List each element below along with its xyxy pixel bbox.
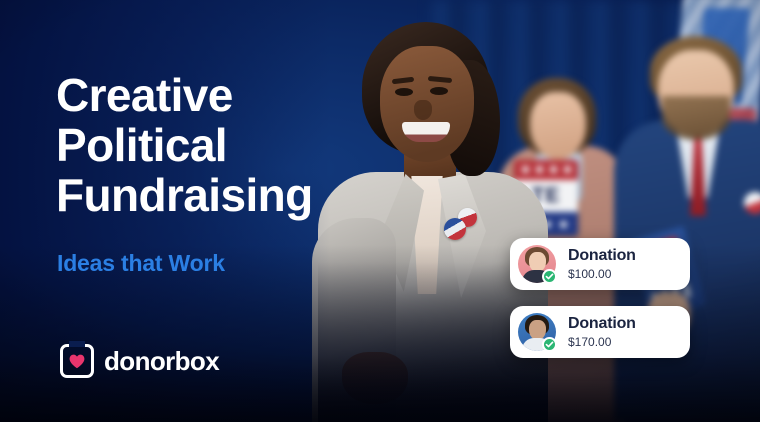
- check-badge-icon: [542, 337, 557, 352]
- headline-line-3: Fundraising: [56, 170, 386, 220]
- donation-amount: $100.00: [568, 268, 636, 280]
- subtitle: Ideas that Work: [57, 250, 225, 277]
- donation-title: Donation: [568, 316, 636, 332]
- donation-title: Donation: [568, 248, 636, 264]
- campaign-pin-icon: [744, 192, 760, 214]
- donation-card[interactable]: Donation $170.00: [510, 306, 690, 358]
- check-badge-icon: [542, 269, 557, 284]
- banner-image: TE: [0, 0, 760, 422]
- donation-card[interactable]: Donation $100.00: [510, 238, 690, 290]
- donorbox-wordmark: donorbox: [104, 346, 219, 377]
- avatar: [518, 245, 556, 283]
- headline-line-1: Creative: [56, 70, 386, 120]
- page-title: Creative Political Fundraising: [56, 70, 386, 220]
- avatar: [518, 313, 556, 351]
- headline-line-2: Political: [56, 120, 386, 170]
- donation-amount: $170.00: [568, 336, 636, 348]
- donorbox-heart-box-icon: [60, 344, 94, 378]
- heart-icon: [69, 354, 85, 369]
- vote-badge-icon: [444, 218, 466, 240]
- donation-cards-list: Donation $100.00 Donation $170.00: [510, 238, 690, 374]
- donorbox-logo[interactable]: donorbox: [60, 344, 219, 378]
